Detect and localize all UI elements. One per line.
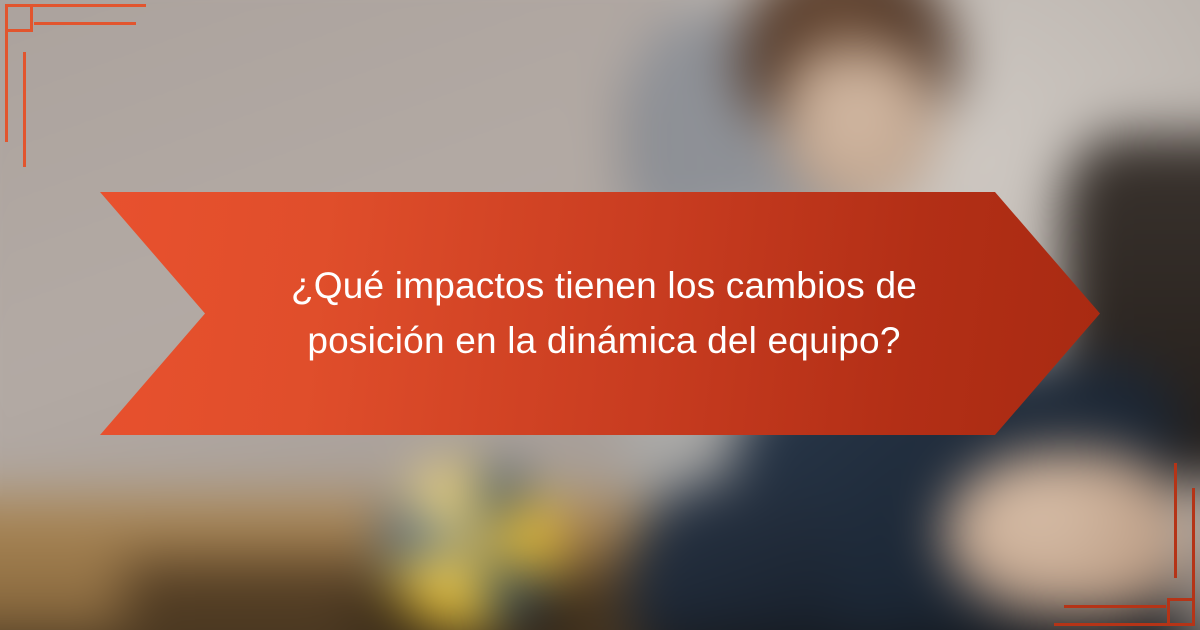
photo-person-arm xyxy=(943,450,1181,615)
photo-person-face xyxy=(778,45,936,210)
headline-title: ¿Qué impactos tienen los cambios de posi… xyxy=(291,259,917,367)
photo-volleyball xyxy=(382,465,560,630)
social-card: ¿Qué impactos tienen los cambios de posi… xyxy=(0,0,1200,630)
headline-line-2: posición en la dinámica del equipo? xyxy=(291,314,917,368)
headline-ribbon-banner: ¿Qué impactos tienen los cambios de posi… xyxy=(100,192,1100,435)
headline-line-1: ¿Qué impactos tienen los cambios de xyxy=(291,259,917,313)
photo-person-knee xyxy=(626,480,837,630)
